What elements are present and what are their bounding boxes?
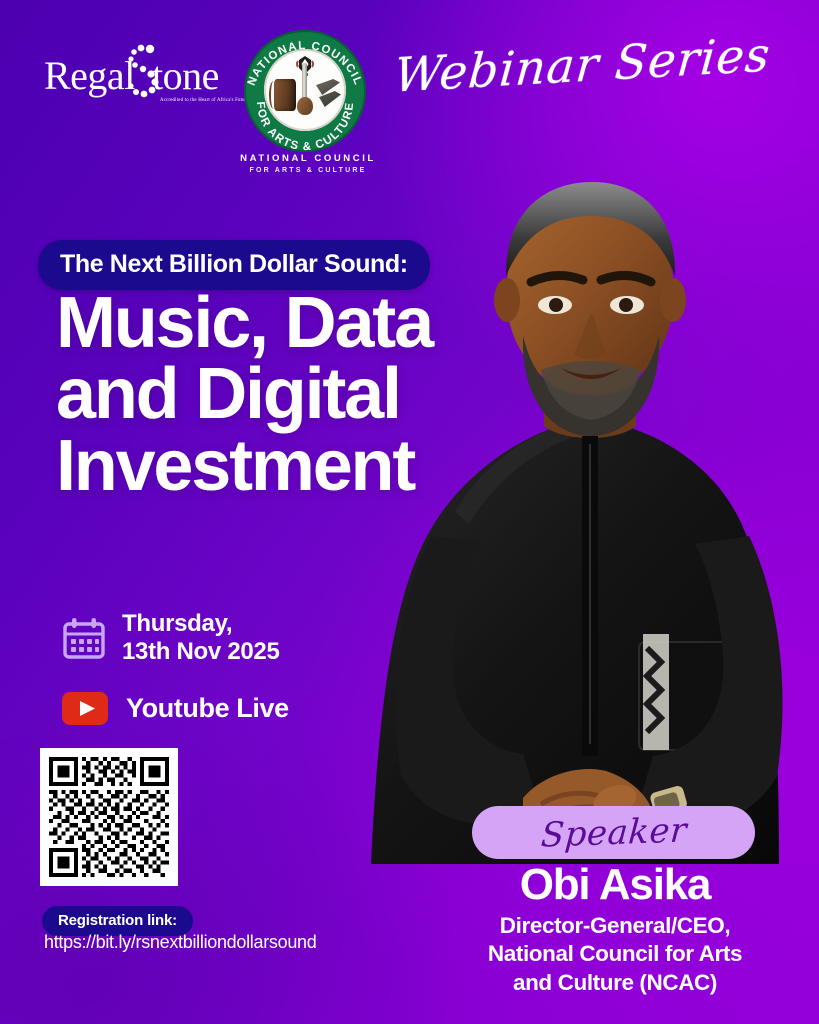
speaker-role-line1: Director-General/CEO, <box>430 912 800 940</box>
ncac-caption: NATIONAL COUNCIL FOR ARTS & CULTURE <box>233 152 383 177</box>
headline-line-2: and Digital <box>56 359 432 430</box>
qr-code-matrix[interactable] <box>49 757 169 877</box>
event-date-line1: Thursday, <box>122 610 280 638</box>
event-date: Thursday, 13th Nov 2025 <box>62 610 280 667</box>
event-platform-label: Youtube Live <box>126 693 289 724</box>
ncac-caption-line2: FOR ARTS & CULTURE <box>233 166 383 177</box>
headline-line-1: Music, Data <box>56 288 432 359</box>
ncac-ring-bottom-text: FOR ARTS & CULTURE <box>254 101 356 153</box>
ncac-caption-line1: NATIONAL COUNCIL <box>233 152 383 166</box>
event-date-text: Thursday, 13th Nov 2025 <box>122 610 280 667</box>
speaker-name: Obi Asika <box>435 860 795 910</box>
headline-line-3: Investment <box>56 431 432 502</box>
poster-header: Regal tone Accredited to the Heart of Af… <box>0 0 819 195</box>
youtube-icon[interactable] <box>62 692 108 725</box>
webinar-poster: Regal tone Accredited to the Heart of Af… <box>0 0 819 1024</box>
calendar-icon <box>62 616 106 660</box>
ncac-logo: NATIONAL COUNCIL FOR ARTS & CULTURE NATI… <box>238 30 372 150</box>
regalstone-logo: Regal tone Accredited to the Heart of Af… <box>44 48 224 108</box>
ncac-ring-text: NATIONAL COUNCIL FOR ARTS & CULTURE <box>238 30 372 164</box>
speaker-badge-label: Speaker <box>539 810 688 855</box>
regalstone-word-regal: Regal <box>44 56 135 96</box>
ncac-ring-top-text: NATIONAL COUNCIL <box>246 40 364 88</box>
page-title: Music, Data and Digital Investment <box>56 288 432 502</box>
speaker-badge: Speaker <box>472 806 755 859</box>
webinar-series-label: Webinar Series <box>392 27 773 103</box>
speaker-role-line2: National Council for Arts <box>430 940 800 968</box>
speaker-role-line3: and Culture (NCAC) <box>430 969 800 997</box>
qr-code-icon[interactable] <box>40 748 178 886</box>
registration-url[interactable]: https://bit.ly/rsnextbilliondollarsound <box>44 932 316 953</box>
speaker-role: Director-General/CEO, National Council f… <box>430 912 800 997</box>
regalstone-word-tone: tone <box>152 56 219 96</box>
regalstone-tagline: Accredited to the Heart of Africa's Futu… <box>160 97 249 102</box>
event-date-line2: 13th Nov 2025 <box>122 638 280 666</box>
event-platform[interactable]: Youtube Live <box>62 692 289 725</box>
